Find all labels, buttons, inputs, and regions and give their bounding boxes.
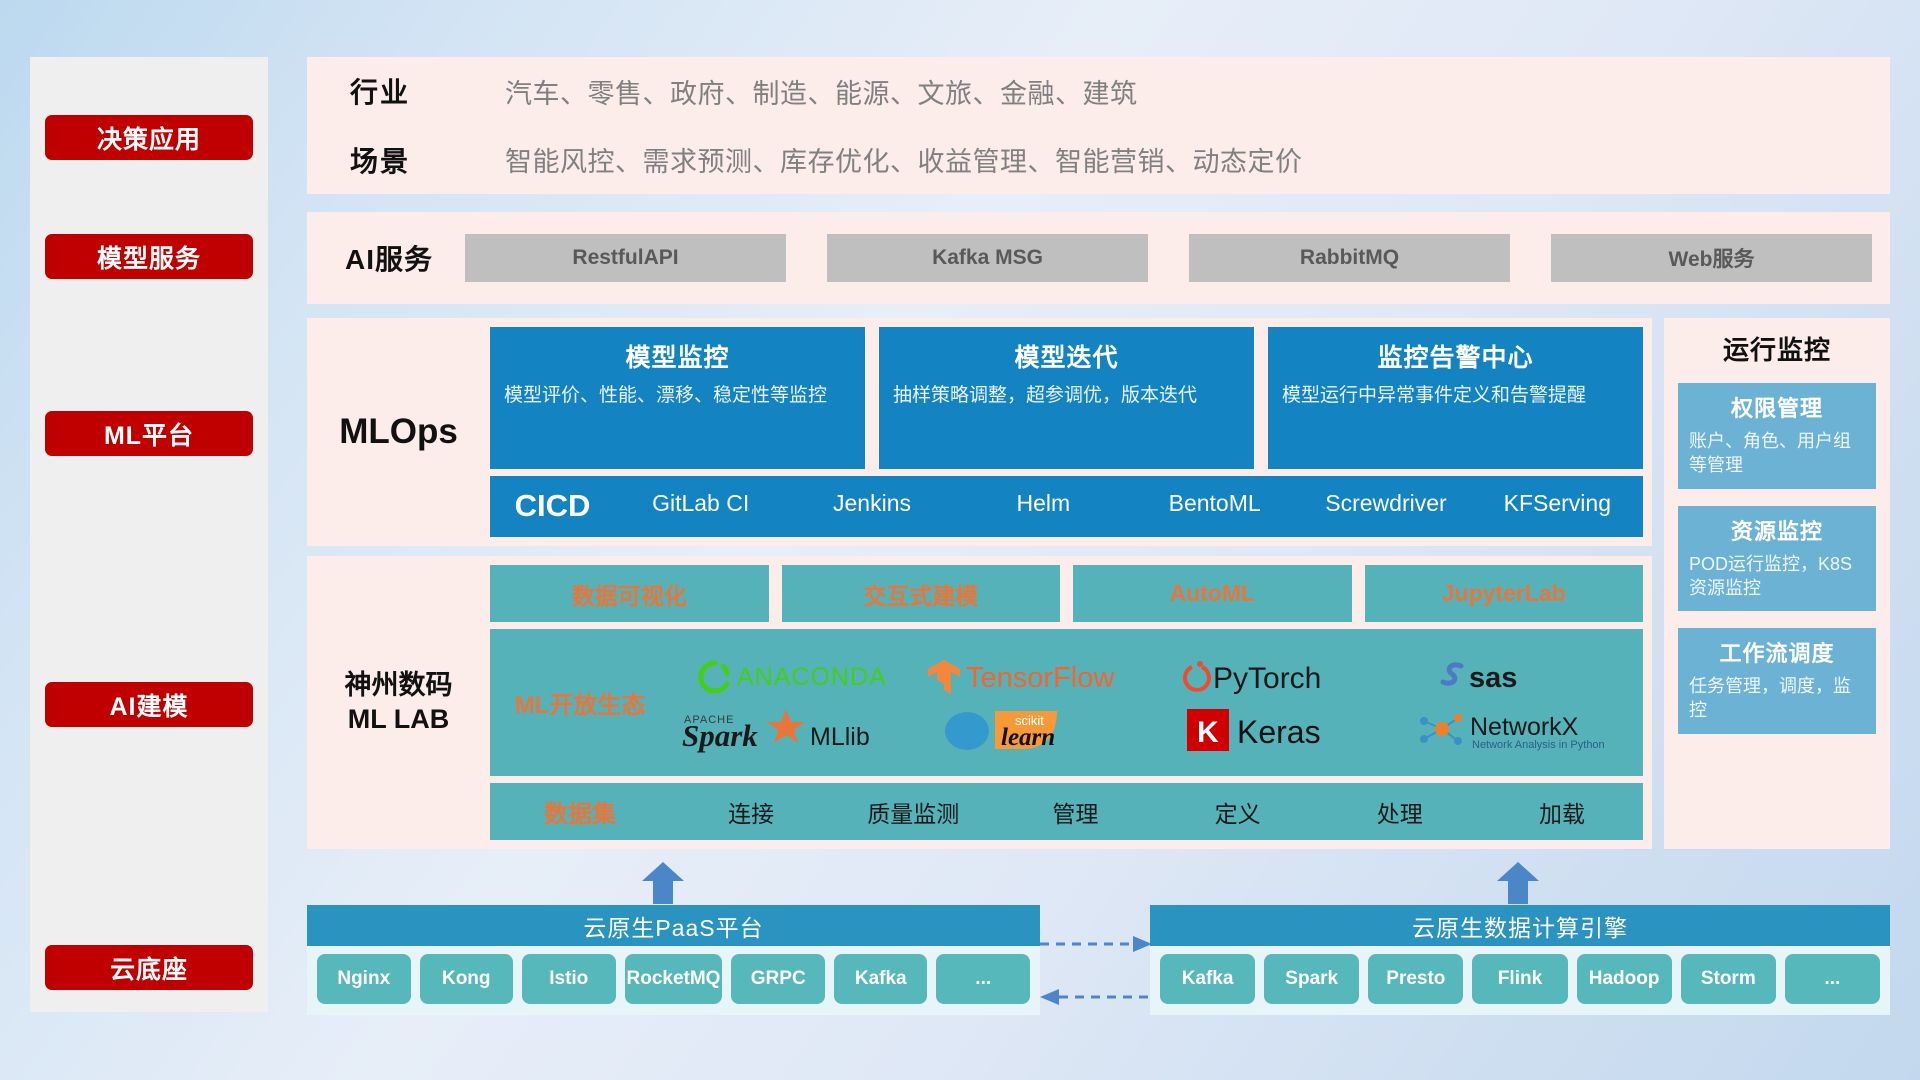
- engine-chip-presto[interactable]: Presto: [1368, 954, 1463, 1004]
- card-desc: 模型运行中异常事件定义和告警提醒: [1282, 383, 1629, 409]
- card-title: 权限管理: [1689, 391, 1865, 423]
- card-title: 模型监控: [504, 338, 851, 374]
- svg-text:TensorFlow: TensorFlow: [966, 662, 1115, 694]
- modeling-tool-row: 数据可视化 交互式建模 AutoML JupyterLab: [490, 565, 1643, 622]
- ml-ecosystem-row: ML开放生态 ANACONDA.: [490, 629, 1643, 776]
- card-desc: 任务管理，调度，监控: [1689, 674, 1865, 723]
- industry-value: 汽车、零售、政府、制造、能源、文旅、金融、建筑: [505, 72, 1138, 111]
- cicd-item-jenkins[interactable]: Jenkins: [786, 489, 957, 518]
- mlops-label: MLOps: [307, 318, 490, 546]
- svg-text:K: K: [1197, 716, 1219, 749]
- card-desc: 账户、角色、用户组等管理: [1689, 429, 1865, 478]
- cicd-item-kfserving[interactable]: KFServing: [1472, 489, 1643, 518]
- keras-logo: K Keras: [1183, 705, 1363, 753]
- tool-chip-jupyterlab[interactable]: JupyterLab: [1365, 565, 1644, 622]
- industry-line: 行业 汽车、零售、政府、制造、能源、文旅、金融、建筑: [307, 57, 1890, 126]
- dataset-item-define[interactable]: 定义: [1157, 795, 1319, 829]
- scenario-value: 智能风控、需求预测、库存优化、收益管理、智能营销、动态定价: [505, 140, 1303, 179]
- ai-service-button-web[interactable]: Web服务: [1551, 234, 1872, 282]
- ml-lab-label: 神州数码 ML LAB: [307, 556, 490, 849]
- tool-chip-data-visualization[interactable]: 数据可视化: [490, 565, 769, 622]
- cicd-item-gitlab-ci[interactable]: GitLab CI: [615, 489, 786, 518]
- upward-arrow-right: [1495, 862, 1541, 904]
- engine-chip-storm[interactable]: Storm: [1681, 954, 1776, 1004]
- networkx-logo: NetworkX Network Analysis in Python: [1412, 705, 1617, 753]
- cloud-data-engine-header: 云原生数据计算引擎: [1150, 905, 1890, 946]
- industry-scenario-panel: 行业 汽车、零售、政府、制造、能源、文旅、金融、建筑 场景 智能风控、需求预测、…: [307, 57, 1890, 194]
- svg-text:MLlib: MLlib: [810, 723, 870, 751]
- mlops-panel: MLOps 模型监控 模型评价、性能、漂移、稳定性等监控 模型迭代 抽样策略调整…: [307, 318, 1652, 546]
- ml-ecosystem-label: ML开放生态: [490, 685, 670, 720]
- scikit-learn-logo: scikit learn: [939, 703, 1124, 755]
- ai-service-button-rabbitmq[interactable]: RabbitMQ: [1189, 234, 1510, 282]
- engine-chip-hadoop[interactable]: Hadoop: [1577, 954, 1672, 1004]
- monitor-card-permission[interactable]: 权限管理 账户、角色、用户组等管理: [1678, 383, 1876, 489]
- svg-text:Spark: Spark: [682, 718, 758, 753]
- cloud-paas-panel: 云原生PaaS平台 Nginx Kong Istio RocketMQ GRPC…: [307, 905, 1040, 1015]
- sidebar-item-model-service[interactable]: 模型服务: [45, 234, 253, 279]
- dashed-arrow-right: [1040, 935, 1152, 958]
- cloud-paas-header: 云原生PaaS平台: [307, 905, 1040, 946]
- anaconda-logo: ANACONDA.: [693, 657, 889, 697]
- svg-text:NetworkX: NetworkX: [1470, 713, 1579, 741]
- paas-chip-nginx[interactable]: Nginx: [317, 954, 411, 1004]
- scenario-line: 场景 智能风控、需求预测、库存优化、收益管理、智能营销、动态定价: [307, 126, 1890, 195]
- svg-text:learn: learn: [1001, 724, 1055, 751]
- cloud-data-engine-panel: 云原生数据计算引擎 Kafka Spark Presto Flink Hadoo…: [1150, 905, 1890, 1015]
- sas-logo: sas: [1439, 657, 1589, 697]
- tensorflow-logo: TensorFlow: [924, 656, 1139, 698]
- dataset-item-manage[interactable]: 管理: [994, 795, 1156, 829]
- mlops-card-group: 模型监控 模型评价、性能、漂移、稳定性等监控 模型迭代 抽样策略调整，超参调优，…: [490, 327, 1643, 469]
- paas-chip-kong[interactable]: Kong: [420, 954, 514, 1004]
- spark-mllib-logo: APACHE Spark MLlib: [678, 705, 903, 753]
- tool-chip-automl[interactable]: AutoML: [1073, 565, 1352, 622]
- cicd-item-bentoml[interactable]: BentoML: [1129, 489, 1300, 518]
- scenario-label: 场景: [350, 140, 505, 180]
- cicd-item-helm[interactable]: Helm: [958, 489, 1129, 518]
- sidebar-item-ai-modeling[interactable]: AI建模: [45, 682, 253, 727]
- paas-chip-kafka[interactable]: Kafka: [834, 954, 928, 1004]
- engine-chip-more[interactable]: ...: [1785, 954, 1880, 1004]
- engine-chip-spark[interactable]: Spark: [1264, 954, 1359, 1004]
- pytorch-logo: PyTorch: [1173, 656, 1373, 698]
- card-desc: POD运行监控，K8S资源监控: [1689, 552, 1865, 601]
- tool-chip-interactive-modeling[interactable]: 交互式建模: [782, 565, 1061, 622]
- card-title: 工作流调度: [1689, 636, 1865, 668]
- ai-service-panel: AI服务 RestfulAPI Kafka MSG RabbitMQ Web服务: [307, 212, 1890, 304]
- mlops-card-model-iteration[interactable]: 模型迭代 抽样策略调整，超参调优，版本迭代: [879, 327, 1254, 469]
- ai-service-buttons: RestfulAPI Kafka MSG RabbitMQ Web服务: [465, 234, 1890, 282]
- paas-chip-grpc[interactable]: GRPC: [731, 954, 825, 1004]
- svg-text:sas: sas: [1469, 662, 1517, 694]
- cicd-label: CICD: [490, 488, 615, 524]
- monitor-card-workflow[interactable]: 工作流调度 任务管理，调度，监控: [1678, 628, 1876, 734]
- dataset-row: 数据集 连接 质量监测 管理 定义 处理 加载: [490, 783, 1643, 840]
- card-title: 模型迭代: [893, 338, 1240, 374]
- ml-lab-label-line1: 神州数码: [345, 669, 453, 703]
- mlops-card-alert-center[interactable]: 监控告警中心 模型运行中异常事件定义和告警提醒: [1268, 327, 1643, 469]
- ai-service-button-kafka-msg[interactable]: Kafka MSG: [827, 234, 1148, 282]
- sidebar-item-cloud-base[interactable]: 云底座: [45, 945, 253, 990]
- runtime-monitor-panel: 运行监控 权限管理 账户、角色、用户组等管理 资源监控 POD运行监控，K8S资…: [1664, 318, 1890, 849]
- ai-modeling-panel: 神州数码 ML LAB 数据可视化 交互式建模 AutoML JupyterLa…: [307, 556, 1652, 849]
- paas-chip-istio[interactable]: Istio: [522, 954, 616, 1004]
- dataset-item-connect[interactable]: 连接: [670, 795, 832, 829]
- cicd-bar: CICD GitLab CI Jenkins Helm BentoML Scre…: [490, 476, 1643, 537]
- engine-chip-flink[interactable]: Flink: [1472, 954, 1567, 1004]
- svg-text:Keras: Keras: [1237, 714, 1321, 750]
- card-desc: 抽样策略调整，超参调优，版本迭代: [893, 383, 1240, 409]
- mlops-card-model-monitoring[interactable]: 模型监控 模型评价、性能、漂移、稳定性等监控: [490, 327, 865, 469]
- ml-lab-label-line2: ML LAB: [348, 703, 450, 737]
- ai-service-label: AI服务: [307, 238, 465, 278]
- dataset-item-load[interactable]: 加载: [1481, 795, 1643, 829]
- card-desc: 模型评价、性能、漂移、稳定性等监控: [504, 383, 851, 409]
- ml-ecosystem-logos: ANACONDA. TensorFlow: [670, 651, 1643, 755]
- card-title: 资源监控: [1689, 514, 1865, 546]
- ai-service-button-restfulapi[interactable]: RestfulAPI: [465, 234, 786, 282]
- engine-chip-kafka[interactable]: Kafka: [1160, 954, 1255, 1004]
- cicd-item-screwdriver[interactable]: Screwdriver: [1300, 489, 1471, 518]
- monitor-card-resource[interactable]: 资源监控 POD运行监控，K8S资源监控: [1678, 506, 1876, 612]
- svg-text:PyTorch: PyTorch: [1213, 662, 1321, 695]
- stage-sidebar: 决策应用 模型服务 ML平台 AI建模 云底座: [30, 57, 268, 1012]
- svg-text:ANACONDA.: ANACONDA.: [737, 663, 889, 691]
- industry-label: 行业: [350, 71, 505, 111]
- dataset-item-quality[interactable]: 质量监测: [832, 795, 994, 829]
- upward-arrow-left: [640, 862, 686, 904]
- sidebar-item-ml-platform[interactable]: ML平台: [45, 411, 253, 456]
- sidebar-item-decision-app[interactable]: 决策应用: [45, 115, 253, 160]
- paas-chip-more[interactable]: ...: [936, 954, 1030, 1004]
- dashed-arrow-left: [1040, 988, 1152, 1011]
- runtime-monitor-title: 运行监控: [1678, 330, 1876, 367]
- dataset-label: 数据集: [490, 794, 670, 829]
- dataset-item-process[interactable]: 处理: [1319, 795, 1481, 829]
- svg-text:Network Analysis in Python: Network Analysis in Python: [1472, 739, 1605, 751]
- paas-chip-rocketmq[interactable]: RocketMQ: [625, 954, 723, 1004]
- card-title: 监控告警中心: [1282, 338, 1629, 374]
